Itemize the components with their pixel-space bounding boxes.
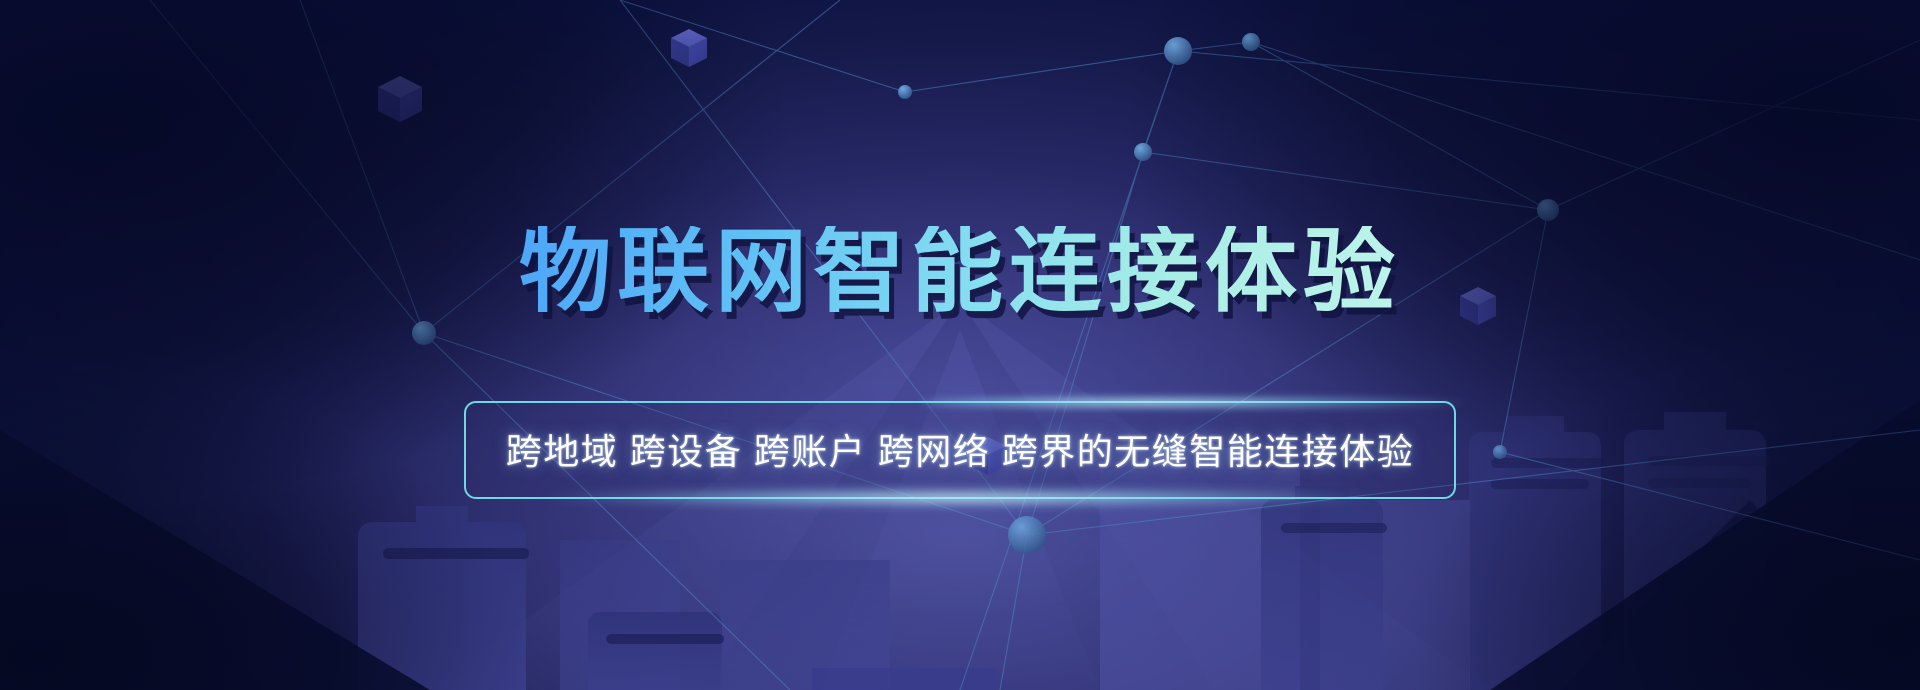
iot-hero-banner: 物联网智能连接体验 跨地域 跨设备 跨账户 跨网络 跨界的无缝智能连接体验 [0,0,1920,690]
background-vignette [0,0,1920,690]
